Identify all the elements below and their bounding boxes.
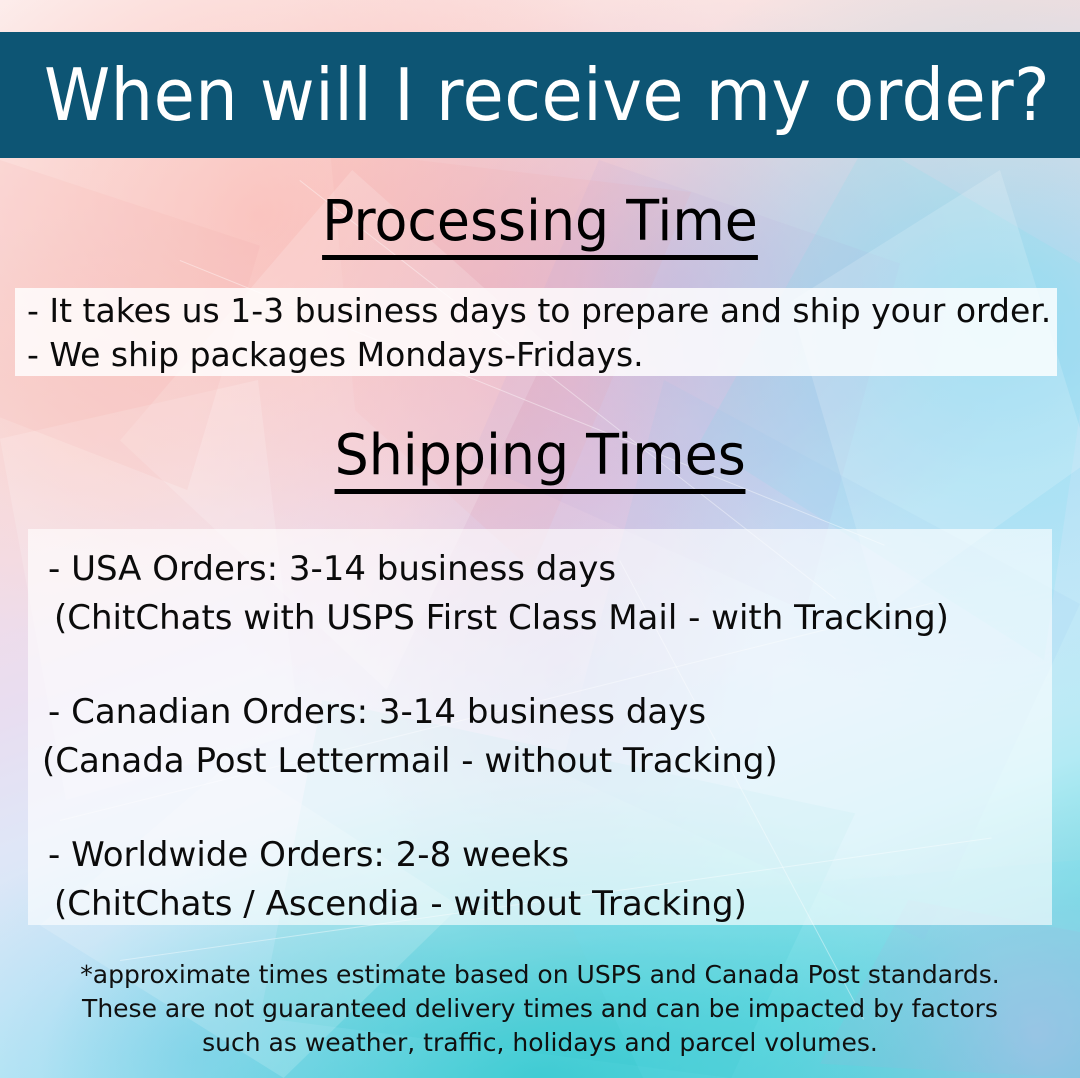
processing-line-2: - We ship packages Mondays-Fridays.	[15, 333, 1057, 377]
infographic-canvas: When will I receive my order? Processing…	[0, 0, 1080, 1078]
section-heading-shipping: Shipping Times	[0, 428, 1080, 494]
shipping-usa-duration: - USA Orders: 3-14 business days	[38, 545, 1052, 594]
section-heading-shipping-label: Shipping Times	[334, 428, 745, 494]
shipping-group-usa: - USA Orders: 3-14 business days (ChitCh…	[38, 545, 1052, 643]
header-banner: When will I receive my order?	[0, 32, 1080, 158]
shipping-worldwide-duration: - Worldwide Orders: 2-8 weeks	[38, 831, 1052, 880]
footnote-disclaimer: *approximate times estimate based on USP…	[0, 958, 1080, 1060]
footnote-line-2: These are not guaranteed delivery times …	[0, 992, 1080, 1026]
spacer	[38, 643, 1052, 688]
footnote-line-1: *approximate times estimate based on USP…	[0, 958, 1080, 992]
shipping-worldwide-carrier: (ChitChats / Ascendia - without Tracking…	[38, 880, 1052, 929]
footnote-line-3: such as weather, traffic, holidays and p…	[0, 1026, 1080, 1060]
page-title: When will I receive my order?	[44, 59, 1050, 131]
processing-line-1: - It takes us 1-3 business days to prepa…	[15, 288, 1057, 333]
shipping-canada-carrier: (Canada Post Lettermail - without Tracki…	[38, 737, 1052, 786]
shipping-group-canada: - Canadian Orders: 3-14 business days (C…	[38, 688, 1052, 786]
section-heading-processing: Processing Time	[0, 194, 1080, 260]
shipping-group-worldwide: - Worldwide Orders: 2-8 weeks (ChitChats…	[38, 831, 1052, 929]
processing-time-panel: - It takes us 1-3 business days to prepa…	[15, 288, 1057, 376]
spacer	[38, 786, 1052, 831]
section-heading-processing-label: Processing Time	[322, 194, 758, 260]
shipping-times-panel: - USA Orders: 3-14 business days (ChitCh…	[28, 529, 1052, 925]
shipping-usa-carrier: (ChitChats with USPS First Class Mail - …	[38, 594, 1052, 643]
shipping-canada-duration: - Canadian Orders: 3-14 business days	[38, 688, 1052, 737]
